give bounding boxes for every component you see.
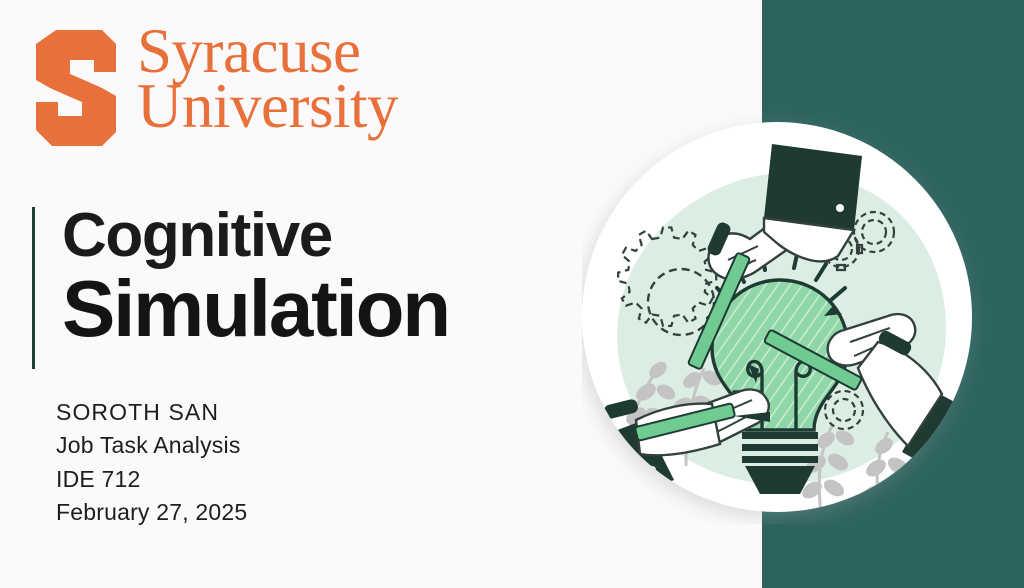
title-accent-rule (32, 207, 35, 369)
meta-author: SOROTH SAN (56, 396, 247, 429)
logo-wordmark: Syracuse University (137, 24, 398, 135)
title-area: Cognitive Simulation (32, 207, 449, 369)
collaborative-idea-lightbulb-illustration (582, 110, 990, 524)
block-s-icon (30, 28, 122, 148)
syracuse-university-logo: Syracuse University (30, 28, 398, 148)
page-title-line-2: Simulation (62, 270, 449, 348)
logo-line-2: University (137, 79, 398, 134)
presentation-title-slide: Syracuse University Cognitive Simulation… (0, 0, 1024, 588)
meta-assignment: Job Task Analysis (56, 429, 247, 462)
title-text: Cognitive Simulation (62, 207, 449, 369)
meta-date: February 27, 2025 (56, 496, 247, 529)
presenter-meta: SOROTH SAN Job Task Analysis IDE 712 Feb… (56, 396, 247, 529)
meta-course: IDE 712 (56, 463, 247, 496)
page-title-line-1: Cognitive (62, 207, 449, 266)
